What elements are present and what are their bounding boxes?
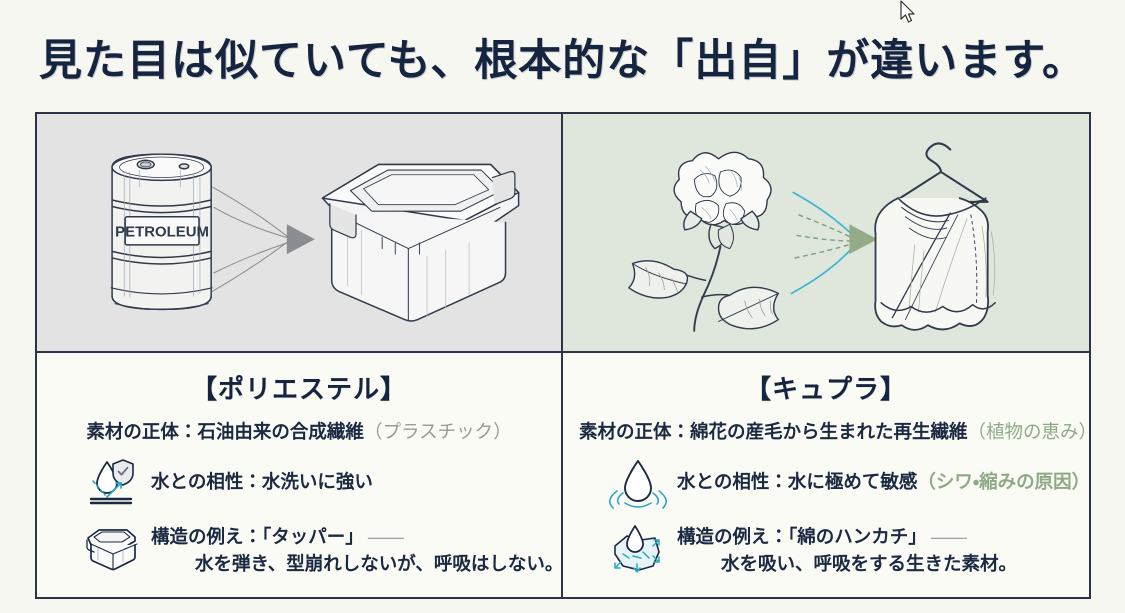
- structure-line-2: 水を吸い、呼吸をする生きた素材。: [677, 551, 1017, 578]
- lead-polyester: 素材の正体：石油由来の合成繊維（プラスチック）: [53, 418, 545, 444]
- comparison-card: PETROLEUM: [35, 112, 1091, 599]
- droplet-ripple-icon: [609, 453, 667, 511]
- row-text-water-affinity-cupra: 水との相性：水に極めて敏感（シワ・縮みの原因）: [677, 457, 1090, 496]
- illustration-cupra: [563, 114, 1089, 353]
- lead-paren-text: （プラスチック）: [364, 421, 512, 442]
- column-cupra: 【キュプラ】 素材の正体：綿花の産毛から生まれた再生繊維（植物の恵み）: [563, 114, 1089, 597]
- em-dash: ——: [364, 526, 403, 547]
- water-affinity-paren: （シワ・縮みの原因）: [917, 471, 1090, 492]
- mouse-pointer-icon: [899, 0, 917, 26]
- row-text-structure-polyester: 構造の例え：「タッパー」 —— 水を弾き、型崩れしないが、呼吸はしない。: [151, 520, 563, 578]
- plastic-container-icon: [83, 516, 141, 574]
- structure-line-1: 構造の例え：「タッパー」: [151, 526, 364, 547]
- slide-stage: 見た目は似ていても、根本的な「出自」が違います。: [0, 0, 1125, 613]
- row-structure-polyester: 構造の例え：「タッパー」 —— 水を弾き、型崩れしないが、呼吸はしない。: [53, 520, 545, 578]
- structure-line-1: 構造の例え：「綿のハンカチ」: [677, 526, 927, 547]
- structure-line-2: 水を弾き、型崩れしないが、呼吸はしない。: [151, 551, 563, 578]
- lead-main-text: 素材の正体：石油由来の合成繊維: [86, 421, 364, 442]
- petroleum-label: PETROLEUM: [115, 223, 209, 240]
- cotton-to-blouse-artwork: [563, 114, 1089, 351]
- absorbent-cloth-droplet-icon: [609, 516, 667, 574]
- lead-cupra: 素材の正体：綿花の産毛から生まれた再生繊維（植物の恵み）: [579, 418, 1073, 444]
- column-polyester: PETROLEUM: [37, 114, 563, 597]
- panel-heading-cupra: 【キュプラ】: [579, 369, 1073, 406]
- row-structure-cupra: 構造の例え：「綿のハンカチ」 —— 水を吸い、呼吸をする生きた素材。: [579, 520, 1073, 578]
- row-water-affinity-cupra: 水との相性：水に極めて敏感（シワ・縮みの原因）: [579, 457, 1073, 511]
- lead-paren-text: （植物の恵み）: [968, 421, 1098, 442]
- em-dash: ——: [927, 526, 966, 547]
- panel-heading-polyester: 【ポリエステル】: [53, 369, 545, 406]
- row-water-affinity-polyester: 水との相性：水洗いに強い: [53, 457, 545, 511]
- water-affinity-main: 水との相性：水に極めて敏感: [677, 471, 917, 492]
- info-polyester: 【ポリエステル】 素材の正体：石油由来の合成繊維（プラスチック）: [37, 353, 561, 597]
- water-repellent-droplet-shield-icon: [83, 453, 141, 511]
- lead-main-text: 素材の正体：綿花の産毛から生まれた再生繊維: [579, 421, 968, 442]
- row-text-water-affinity-polyester: 水との相性：水洗いに強い: [151, 457, 373, 496]
- row-text-structure-cupra: 構造の例え：「綿のハンカチ」 —— 水を吸い、呼吸をする生きた素材。: [677, 520, 1017, 578]
- info-cupra: 【キュプラ】 素材の正体：綿花の産毛から生まれた再生繊維（植物の恵み）: [563, 353, 1089, 597]
- oil-drum-to-container-artwork: PETROLEUM: [37, 114, 561, 351]
- page-title: 見た目は似ていても、根本的な「出自」が違います。: [0, 26, 1125, 88]
- illustration-polyester: PETROLEUM: [37, 114, 561, 353]
